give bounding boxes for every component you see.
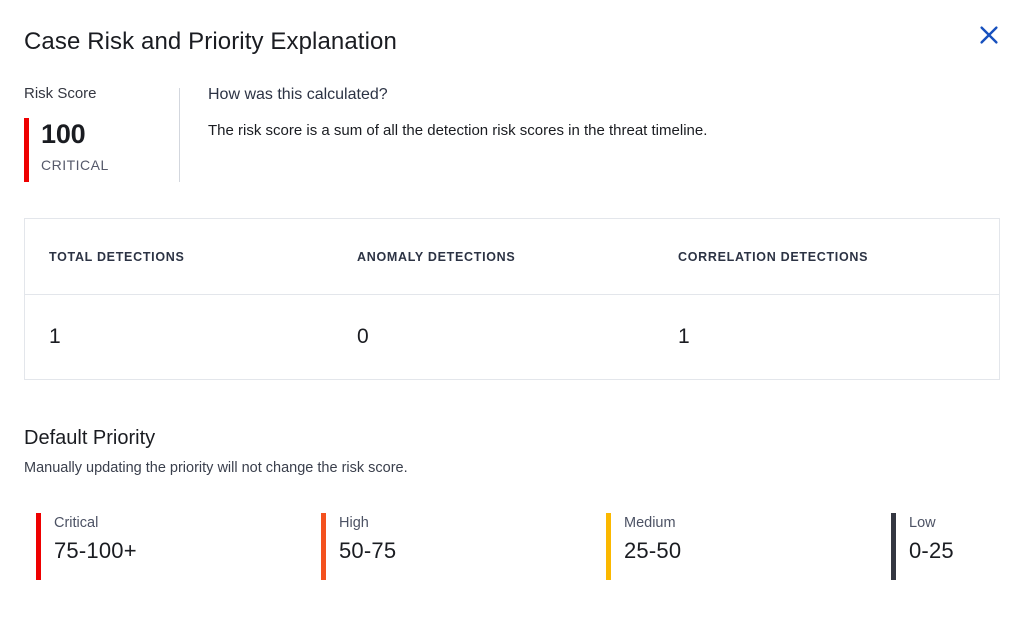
column-header-anomaly-detections: ANOMALY DETECTIONS [333,250,654,264]
table-row: 1 0 1 [25,295,999,379]
priority-item-high: High 50-75 [321,513,606,580]
risk-score-section: Risk Score 100 CRITICAL How was this cal… [24,84,1000,190]
priority-name-low: Low [909,513,954,533]
default-priority-subtitle: Manually updating the priority will not … [24,458,1000,478]
risk-severity-label: CRITICAL [41,156,109,174]
risk-score-value: 100 [41,118,109,150]
vertical-divider [179,88,180,182]
close-x-icon [978,24,1000,46]
priority-item-critical: Critical 75-100+ [36,513,321,580]
priority-range-medium: 25-50 [624,537,681,565]
column-header-total-detections: TOTAL DETECTIONS [25,250,333,264]
column-header-correlation-detections: CORRELATION DETECTIONS [654,250,999,264]
priority-name-high: High [339,513,396,533]
priority-name-critical: Critical [54,513,137,533]
priority-range-high: 50-75 [339,537,396,565]
cell-anomaly-detections: 0 [333,324,654,350]
default-priority-section: Default Priority Manually updating the p… [24,425,1000,478]
risk-score-block: Risk Score 100 CRITICAL [24,84,144,182]
cell-total-detections: 1 [25,324,333,350]
default-priority-title: Default Priority [24,425,1000,452]
priority-range-critical: 75-100+ [54,537,137,565]
priority-item-medium: Medium 25-50 [606,513,891,580]
priority-legend: Critical 75-100+ High 50-75 Medium 25-50… [36,513,1000,580]
case-risk-priority-dialog: Case Risk and Priority Explanation Risk … [0,0,1024,622]
priority-range-low: 0-25 [909,537,954,565]
explanation-heading: How was this calculated? [208,84,1000,106]
priority-name-medium: Medium [624,513,681,533]
explanation-text: The risk score is a sum of all the detec… [208,120,1000,142]
page-title: Case Risk and Priority Explanation [24,26,397,58]
table-header-row: TOTAL DETECTIONS ANOMALY DETECTIONS CORR… [25,219,999,295]
explanation-block: How was this calculated? The risk score … [208,84,1000,142]
risk-score-label: Risk Score [24,84,144,104]
cell-correlation-detections: 1 [654,324,999,350]
close-button[interactable] [972,18,1006,52]
priority-item-low: Low 0-25 [891,513,954,580]
detections-table: TOTAL DETECTIONS ANOMALY DETECTIONS CORR… [24,218,1000,380]
